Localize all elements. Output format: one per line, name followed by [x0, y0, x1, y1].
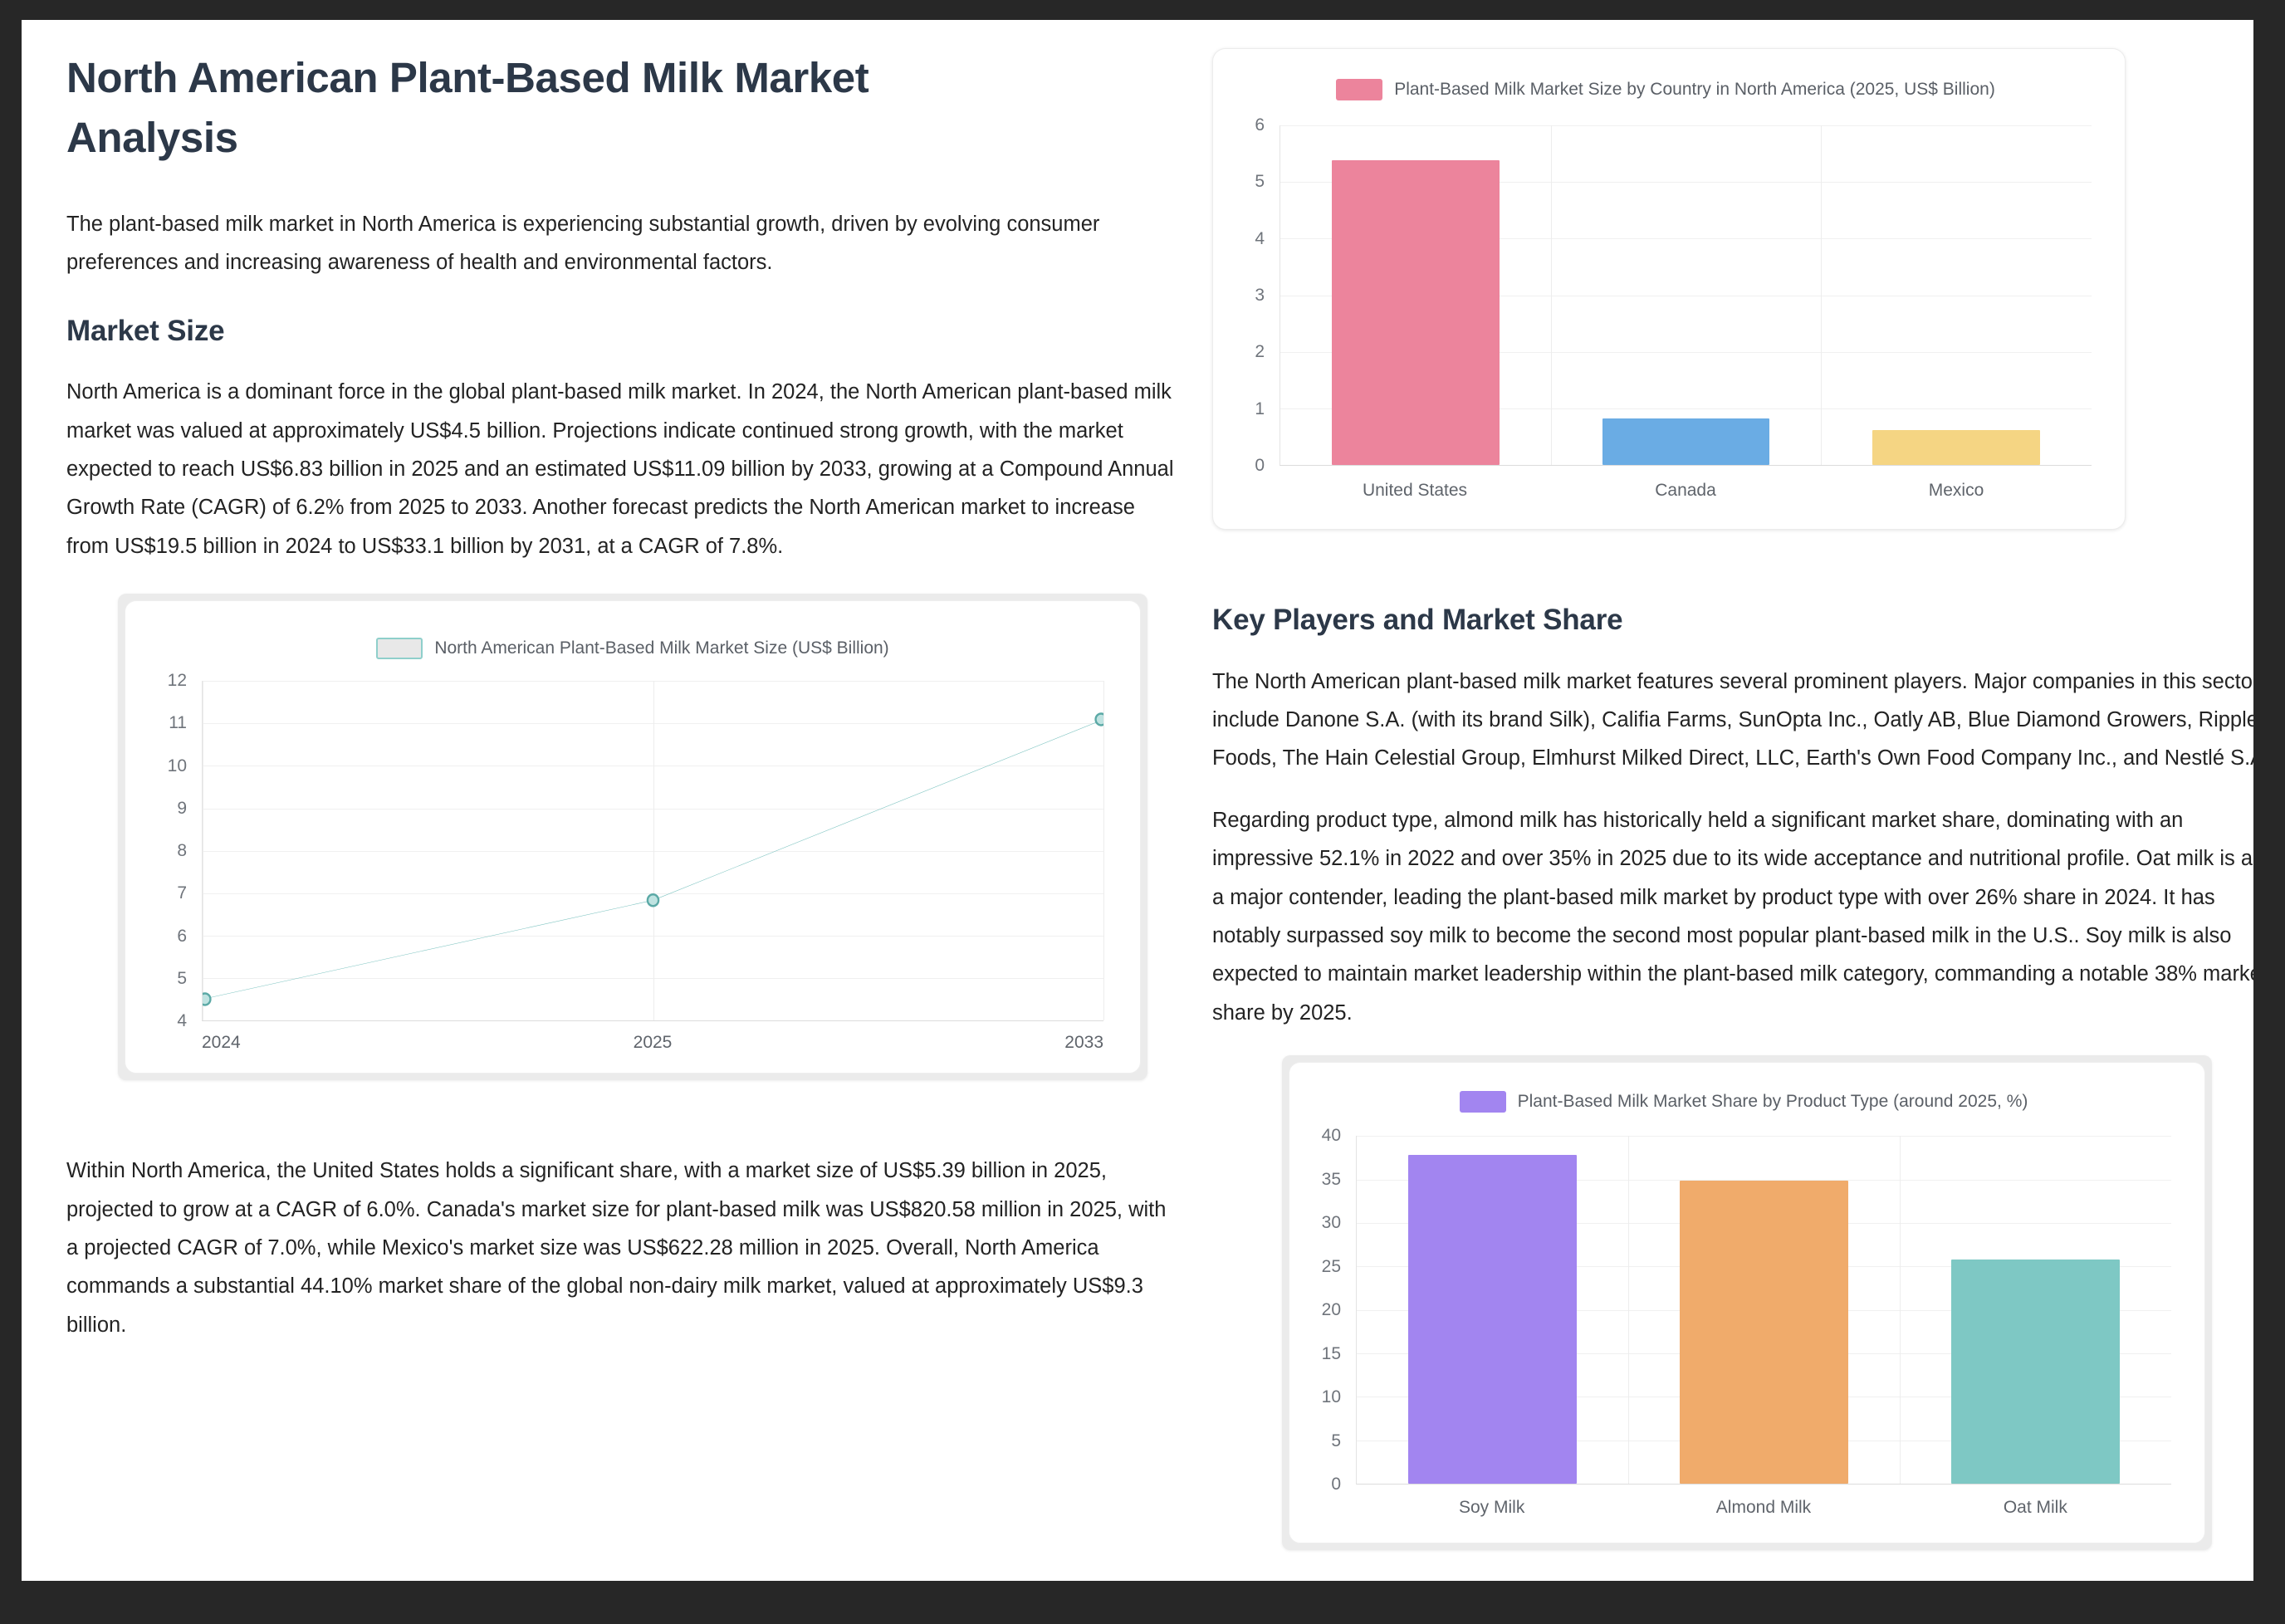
product-bar-y-axis: 40 35 30 25 20 15 10 5 0	[1304, 1136, 1349, 1485]
document-page: North American Plant-Based Milk Market A…	[22, 20, 2253, 1581]
bar-slot	[1357, 1136, 1628, 1484]
y-tick: 6	[177, 927, 187, 947]
legend-swatch-product-icon	[1460, 1091, 1506, 1113]
x-label: United States	[1280, 481, 1550, 501]
y-tick: 12	[168, 671, 187, 691]
y-tick: 6	[1255, 115, 1265, 135]
y-tick: 0	[1331, 1475, 1341, 1494]
country-bar-chart-card: Plant-Based Milk Market Size by Country …	[1212, 48, 2126, 530]
market-size-paragraph-2: Within North America, the United States …	[66, 1152, 1176, 1344]
legend-swatch-country-icon	[1336, 79, 1382, 100]
market-size-paragraph-1: North America is a dominant force in the…	[66, 373, 1176, 565]
x-label: Mexico	[1821, 481, 2092, 501]
legend-swatch-line-icon	[376, 638, 423, 659]
y-tick: 11	[169, 713, 187, 733]
key-players-paragraph-1: The North American plant-based milk mark…	[1212, 663, 2253, 778]
x-label: 2024	[202, 1033, 241, 1053]
product-bar-chart-legend: Plant-Based Milk Market Share by Product…	[1304, 1091, 2183, 1113]
y-tick: 10	[168, 756, 187, 776]
right-column: Plant-Based Milk Market Size by Country …	[1212, 48, 2253, 1581]
y-tick: 4	[1255, 229, 1265, 249]
country-bar-grid	[1280, 125, 2092, 466]
bar-slot	[1280, 125, 1551, 465]
y-tick: 0	[1255, 456, 1265, 476]
y-tick: 5	[177, 969, 187, 989]
product-bar-grid	[1356, 1136, 2171, 1485]
y-tick: 3	[1255, 286, 1265, 306]
bar-soy-milk	[1408, 1155, 1577, 1484]
country-bar-y-axis: 6 5 4 3 2 1 0	[1228, 125, 1273, 466]
x-label: Oat Milk	[1900, 1498, 2171, 1518]
key-players-paragraph-2: Regarding product type, almond milk has …	[1212, 801, 2253, 1032]
y-tick: 5	[1331, 1431, 1341, 1451]
y-tick: 40	[1322, 1126, 1341, 1146]
product-bar-chart-shell: Plant-Based Milk Market Share by Product…	[1282, 1055, 2212, 1550]
y-tick: 35	[1322, 1170, 1341, 1190]
y-tick: 10	[1322, 1387, 1341, 1407]
country-bar-x-labels: United States Canada Mexico	[1280, 481, 2092, 501]
product-bars	[1357, 1136, 2171, 1484]
y-tick: 2	[1255, 342, 1265, 362]
x-label: Soy Milk	[1356, 1498, 1627, 1518]
bar-oat-milk	[1951, 1260, 2120, 1484]
line-chart-y-axis: 12 11 10 9 8 7 6 5 4	[150, 681, 195, 1021]
y-tick: 9	[177, 799, 187, 819]
line-chart-legend: North American Plant-Based Milk Market S…	[150, 638, 1115, 659]
section-heading-market-size: Market Size	[66, 312, 1176, 350]
line-chart-grid	[202, 681, 1103, 1021]
bar-canada	[1602, 418, 1770, 465]
line-chart-markers	[203, 681, 1103, 1020]
line-chart-x-labels: 2024 2025 2033	[202, 1033, 1103, 1053]
bar-united-states	[1332, 160, 1500, 465]
x-label: 2025	[634, 1033, 673, 1053]
document-content: North American Plant-Based Milk Market A…	[22, 20, 2253, 1581]
bar-slot	[1821, 125, 2092, 465]
x-label: Canada	[1550, 481, 1821, 501]
y-tick: 8	[177, 841, 187, 861]
country-bars	[1280, 125, 2092, 465]
product-bar-chart-legend-label: Plant-Based Milk Market Share by Product…	[1518, 1092, 2028, 1112]
y-tick: 1	[1255, 399, 1265, 419]
bar-slot	[1551, 125, 1822, 465]
line-chart-shell: North American Plant-Based Milk Market S…	[118, 594, 1147, 1080]
line-chart-plot: 12 11 10 9 8 7 6 5 4	[150, 681, 1115, 1021]
y-tick: 5	[1255, 172, 1265, 192]
country-bar-chart-legend: Plant-Based Milk Market Size by Country …	[1228, 79, 2103, 100]
x-label: Almond Milk	[1627, 1498, 1899, 1518]
product-bar-x-labels: Soy Milk Almond Milk Oat Milk	[1356, 1498, 2171, 1518]
bar-slot	[1628, 1136, 1900, 1484]
market-size-line-chart-card: North American Plant-Based Milk Market S…	[125, 600, 1141, 1074]
y-tick: 7	[177, 883, 187, 903]
line-chart-legend-label: North American Plant-Based Milk Market S…	[434, 638, 888, 658]
bar-slot	[1900, 1136, 2171, 1484]
country-bar-chart-legend-label: Plant-Based Milk Market Size by Country …	[1394, 80, 1995, 100]
page-title: North American Plant-Based Milk Market A…	[66, 48, 996, 169]
y-tick: 20	[1322, 1300, 1341, 1320]
left-column: North American Plant-Based Milk Market A…	[46, 48, 1176, 1581]
y-tick: 30	[1322, 1213, 1341, 1233]
section-heading-key-players: Key Players and Market Share	[1212, 601, 2253, 639]
product-bar-chart-card: Plant-Based Milk Market Share by Product…	[1289, 1062, 2205, 1543]
y-tick: 4	[177, 1011, 187, 1031]
bar-mexico	[1872, 430, 2040, 465]
product-bar-chart-plot: 40 35 30 25 20 15 10 5 0	[1304, 1136, 2183, 1485]
country-bar-chart-plot: 6 5 4 3 2 1 0	[1228, 125, 2103, 466]
y-tick: 25	[1322, 1257, 1341, 1277]
y-tick: 15	[1322, 1344, 1341, 1364]
bar-almond-milk	[1680, 1181, 1848, 1485]
intro-paragraph: The plant-based milk market in North Ame…	[66, 205, 1176, 282]
x-label: 2033	[1064, 1033, 1103, 1053]
